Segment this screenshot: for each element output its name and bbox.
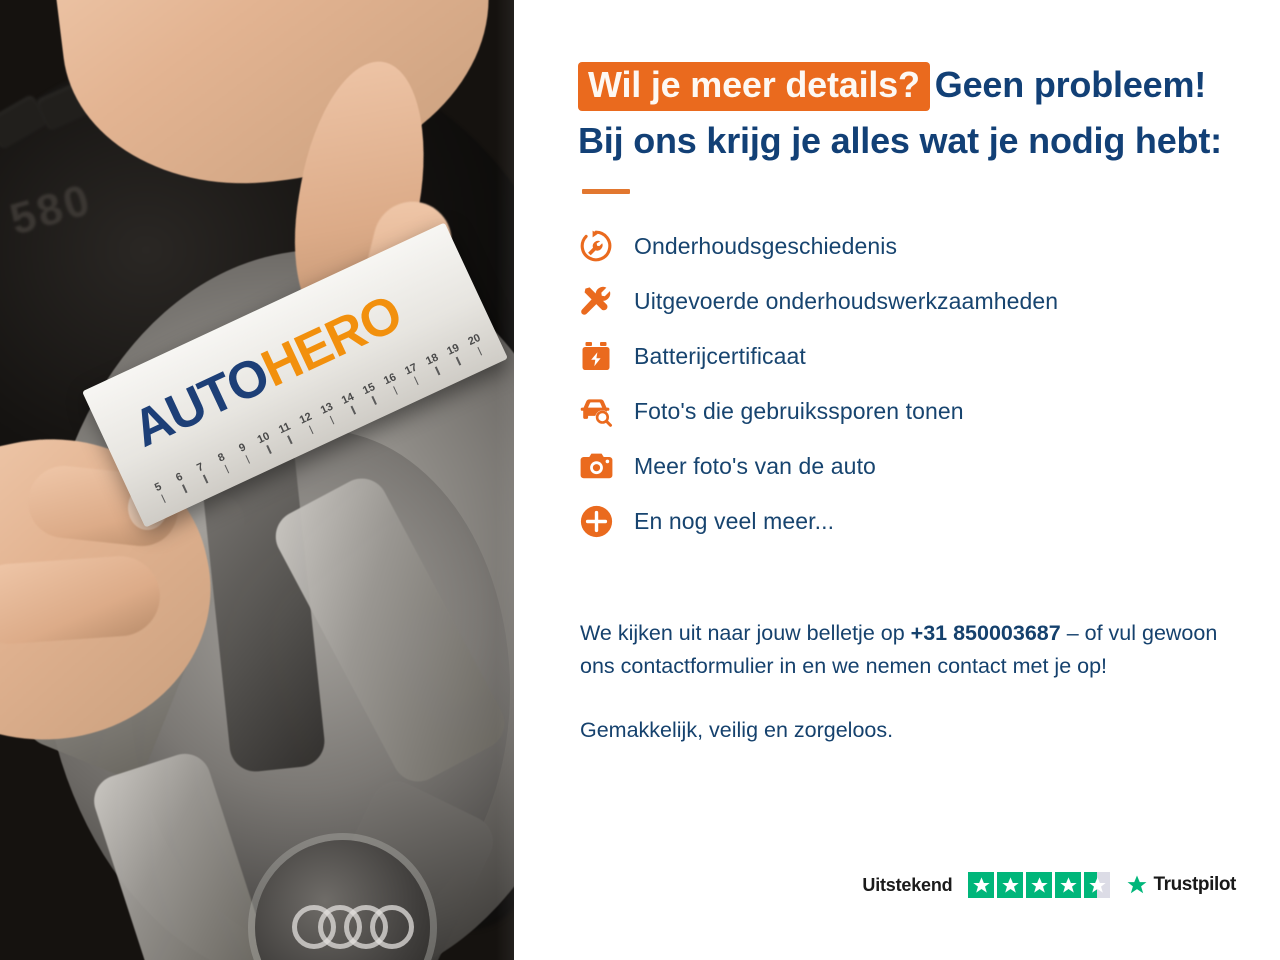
scale-mark <box>224 465 229 474</box>
content-panel: Wil je meer details?Geen probleem! Bij o… <box>514 0 1280 960</box>
car-inspection-icon <box>578 393 614 429</box>
hero-photo: 580 91W <box>0 0 514 960</box>
scale-mark <box>372 396 377 405</box>
list-item: Onderhoudsgeschiedenis <box>578 228 1236 264</box>
star-filled-icon <box>1026 872 1052 898</box>
feature-label: Onderhoudsgeschiedenis <box>634 235 897 258</box>
contact-text-before: We kijken uit naar jouw belletje op <box>580 621 911 645</box>
scale-number: 9 <box>237 441 248 454</box>
service-history-icon <box>578 228 614 264</box>
scale-number: 15 <box>361 381 377 397</box>
scale-number: 17 <box>403 361 419 377</box>
scale-number: 19 <box>445 342 461 358</box>
feature-label: Meer foto's van de auto <box>634 455 876 478</box>
trustpilot-rating-word: Uitstekend <box>862 875 952 896</box>
contact-paragraph: We kijken uit naar jouw belletje op +31 … <box>580 617 1236 682</box>
scale-number: 20 <box>466 332 482 348</box>
trustpilot-logo: Trustpilot <box>1126 874 1236 896</box>
scale-mark <box>477 347 482 356</box>
scale-mark <box>161 494 166 503</box>
scale-mark <box>393 386 398 395</box>
star-filled-icon <box>1055 872 1081 898</box>
scale-number: 8 <box>216 451 227 464</box>
scale-mark <box>287 435 292 444</box>
scale-number: 13 <box>319 401 335 417</box>
headline-rest: Geen probleem! <box>935 64 1206 105</box>
headline-line2: Bij ons krijg je alles wat je nodig hebt… <box>578 120 1236 162</box>
promo-panel: 580 91W <box>0 0 1280 960</box>
star-filled-icon <box>968 872 994 898</box>
headline-badge: Wil je meer details? <box>578 62 930 111</box>
star-half-icon <box>1084 872 1110 898</box>
hub-ring-icon <box>370 905 414 949</box>
list-item: Foto's die gebruikssporen tonen <box>578 393 1236 429</box>
body-copy: We kijken uit naar jouw belletje op +31 … <box>580 617 1236 746</box>
trustpilot-star-icon <box>1126 874 1148 896</box>
scale-number: 11 <box>277 420 293 436</box>
feature-list: Onderhoudsgeschiedenis Uitgevoerde onder… <box>578 228 1236 539</box>
feature-label: Uitgevoerde onderhoudswerkzaamheden <box>634 290 1058 313</box>
star-filled-icon <box>997 872 1023 898</box>
scale-number: 6 <box>174 471 185 484</box>
battery-icon <box>578 338 614 374</box>
list-item: Uitgevoerde onderhoudswerkzaamheden <box>578 283 1236 319</box>
scale-number: 10 <box>256 430 272 446</box>
scale-mark <box>351 406 356 415</box>
scale-number: 12 <box>298 410 314 426</box>
scale-mark <box>266 445 271 454</box>
scale-number: 7 <box>195 461 206 474</box>
tagline: Gemakkelijk, veilig en zorgeloos. <box>580 714 1236 747</box>
feature-label: Foto's die gebruikssporen tonen <box>634 400 964 423</box>
feature-label: En nog veel meer... <box>634 510 834 533</box>
photo-stage: 580 91W <box>0 0 514 960</box>
scale-mark <box>245 455 250 464</box>
scale-mark <box>330 416 335 425</box>
scale-number: 14 <box>340 391 356 407</box>
trustpilot-widget[interactable]: Uitstekend Trustp <box>862 872 1236 898</box>
scale-mark <box>308 425 313 434</box>
accent-divider <box>582 189 630 194</box>
scale-number: 5 <box>153 481 164 494</box>
tools-crossed-icon <box>578 283 614 319</box>
list-item: Meer foto's van de auto <box>578 448 1236 484</box>
feature-label: Batterijcertificaat <box>634 345 806 368</box>
list-item: Batterijcertificaat <box>578 338 1236 374</box>
trustpilot-stars <box>968 872 1110 898</box>
camera-icon <box>578 448 614 484</box>
scale-mark <box>203 475 208 484</box>
phone-number: +31 850003687 <box>911 621 1061 645</box>
scale-number: 16 <box>382 371 398 387</box>
scale-mark <box>182 484 187 493</box>
photo-edge-vignette <box>496 0 514 960</box>
trustpilot-brand: Trustpilot <box>1153 874 1236 896</box>
page-title: Wil je meer details?Geen probleem! Bij o… <box>578 62 1236 162</box>
scale-mark <box>456 357 461 366</box>
scale-mark <box>414 376 419 385</box>
scale-mark <box>435 367 440 376</box>
scale-number: 18 <box>424 352 440 368</box>
list-item: En nog veel meer... <box>578 503 1236 539</box>
plus-circle-icon <box>578 503 614 539</box>
